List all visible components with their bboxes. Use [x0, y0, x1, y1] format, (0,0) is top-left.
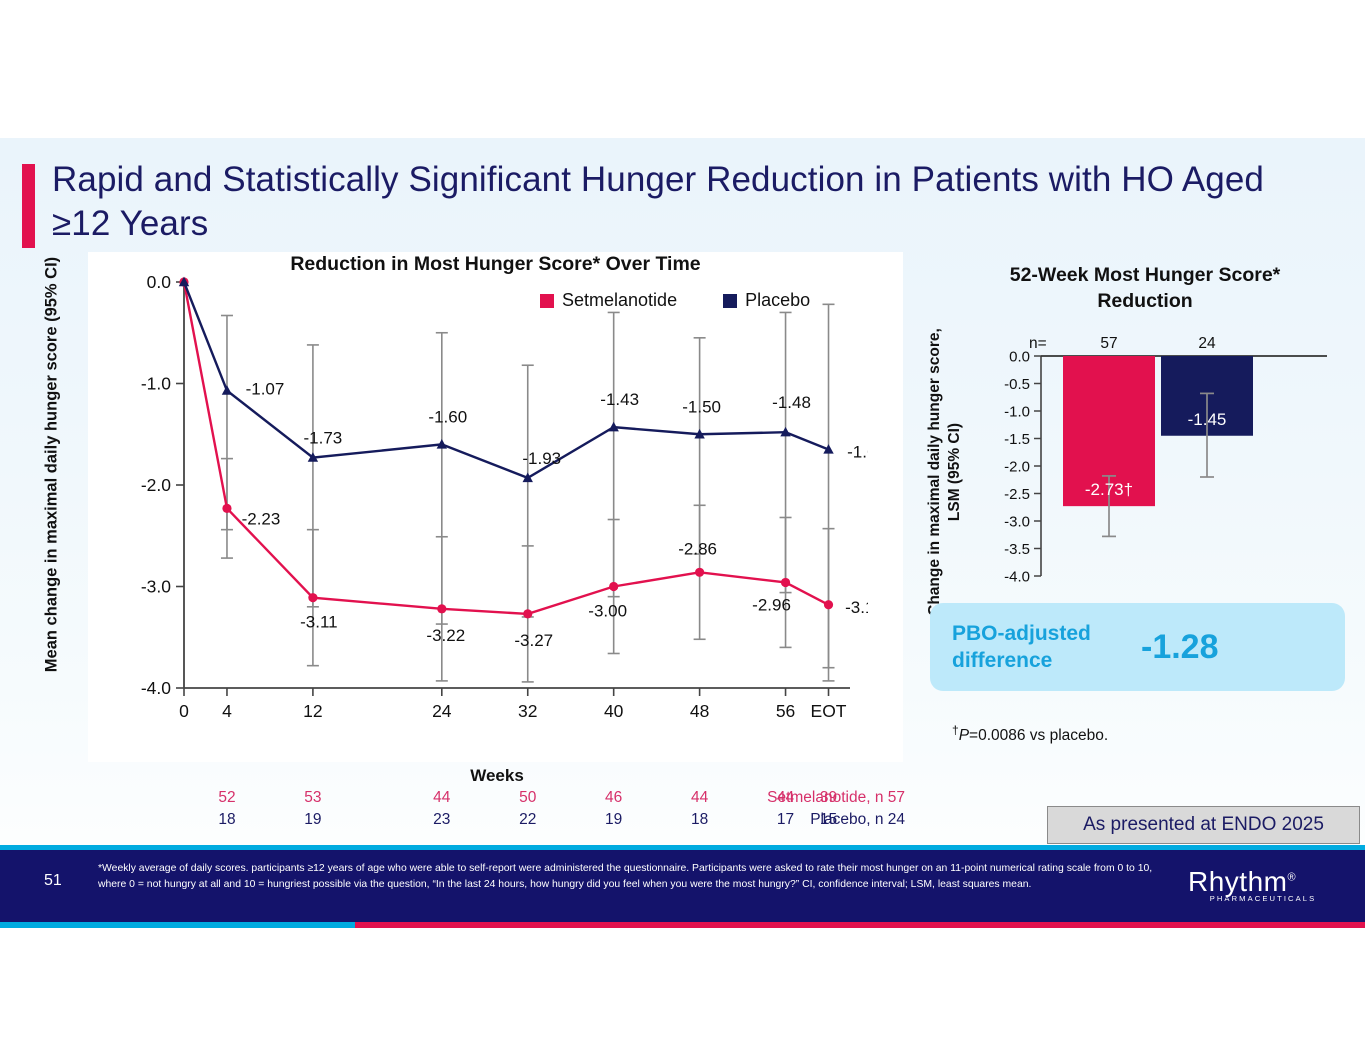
line-chart-plot: 0.0-1.0-2.0-3.0-4.004122432404856EOT-2.2… — [126, 272, 868, 740]
logo-wordmark: Rhythm® — [1188, 866, 1338, 898]
n-cell-placebo: 22 — [507, 811, 549, 829]
svg-text:-3.22: -3.22 — [426, 626, 465, 645]
svg-text:-1.0: -1.0 — [1004, 404, 1030, 421]
svg-text:-2.5: -2.5 — [1004, 486, 1030, 503]
svg-text:-1.65: -1.65 — [847, 442, 868, 461]
bar-chart-plot: 0.0-0.5-1.0-1.5-2.0-2.5-3.0-3.5-4.0n=57-… — [985, 330, 1335, 588]
rhythm-logo: Rhythm® PHARMACEUTICALS — [1188, 866, 1338, 903]
pbo-adjusted-difference-callout: PBO-adjusted difference -1.28 — [930, 603, 1345, 691]
n-cell-setmelanotide: 52 — [206, 789, 248, 807]
n-cell-setmelanotide: 44 — [765, 789, 807, 807]
p-rest: =0.0086 vs placebo. — [969, 727, 1108, 744]
svg-text:-1.73: -1.73 — [304, 429, 343, 448]
n-cell-placebo: 17 — [765, 811, 807, 829]
endo-badge: As presented at ENDO 2025 — [1047, 806, 1360, 844]
svg-text:-1.60: -1.60 — [428, 407, 467, 426]
n-cell-setmelanotide: 50 — [507, 789, 549, 807]
n-cell-setmelanotide: 44 — [679, 789, 721, 807]
page-title: Rapid and Statistically Significant Hung… — [52, 158, 1322, 246]
svg-text:-3.27: -3.27 — [514, 631, 553, 650]
svg-text:24: 24 — [432, 701, 452, 721]
svg-text:EOT: EOT — [811, 701, 847, 721]
n-cell-placebo: 18 — [206, 811, 248, 829]
bottom-rule — [0, 922, 1365, 928]
svg-text:-3.00: -3.00 — [588, 602, 627, 621]
svg-text:-2.0: -2.0 — [141, 475, 171, 495]
svg-text:-1.48: -1.48 — [772, 393, 811, 412]
n-cell-placebo: 18 — [679, 811, 721, 829]
bar-chart-svg: 0.0-0.5-1.0-1.5-2.0-2.5-3.0-3.5-4.0n=57-… — [985, 330, 1335, 588]
svg-text:-1.5: -1.5 — [1004, 431, 1030, 448]
svg-text:56: 56 — [776, 701, 795, 721]
n-cell-setmelanotide: 39 — [808, 789, 850, 807]
svg-text:0: 0 — [179, 701, 189, 721]
svg-text:-1.93: -1.93 — [522, 449, 561, 468]
callout-value: -1.28 — [1141, 628, 1219, 667]
svg-text:57: 57 — [1100, 335, 1117, 352]
n-cell-setmelanotide: 46 — [593, 789, 635, 807]
svg-text:32: 32 — [518, 701, 537, 721]
svg-text:-2.23: -2.23 — [242, 509, 281, 528]
svg-text:-1.07: -1.07 — [246, 380, 285, 399]
svg-text:-4.0: -4.0 — [1004, 569, 1030, 586]
svg-text:-3.11: -3.11 — [300, 613, 338, 632]
svg-text:n=: n= — [1029, 335, 1047, 352]
n-cell-setmelanotide: 53 — [292, 789, 334, 807]
svg-text:0.0: 0.0 — [1009, 349, 1030, 366]
svg-text:-3.0: -3.0 — [141, 577, 171, 597]
registered-icon: ® — [1287, 872, 1296, 884]
svg-text:-2.0: -2.0 — [1004, 459, 1030, 476]
line-chart-y-axis-label: Mean change in maximal daily hunger scor… — [43, 245, 62, 685]
n-cell-placebo: 19 — [292, 811, 334, 829]
line-chart-x-axis-label: Weeks — [126, 766, 868, 786]
svg-text:40: 40 — [604, 701, 624, 721]
logo-word: Rhythm — [1188, 866, 1287, 897]
n-counts-table: Setmelanotide, n 57 5253445046444439 Pla… — [0, 789, 905, 833]
svg-text:-1.45: -1.45 — [1188, 410, 1227, 429]
svg-text:-4.0: -4.0 — [141, 678, 171, 698]
line-chart-svg: 0.0-1.0-2.0-3.0-4.004122432404856EOT-2.2… — [126, 272, 868, 740]
svg-text:0.0: 0.0 — [147, 272, 172, 292]
svg-text:-3.18: -3.18 — [845, 598, 868, 617]
footnote-text: *Weekly average of daily scores. partici… — [98, 861, 1173, 892]
bar-chart-y-axis-label: Change in maximal daily hunger score, LS… — [925, 322, 965, 622]
svg-text:-3.0: -3.0 — [1004, 514, 1030, 531]
p-italic: P — [959, 727, 969, 744]
title-accent-bar — [22, 164, 35, 248]
svg-text:-1.0: -1.0 — [141, 374, 171, 394]
n-cell-placebo: 15 — [808, 811, 850, 829]
slide-number: 51 — [44, 872, 62, 890]
svg-text:-1.43: -1.43 — [600, 390, 639, 409]
n-cell-placebo: 23 — [421, 811, 463, 829]
svg-text:-2.96: -2.96 — [752, 595, 791, 614]
svg-text:48: 48 — [690, 701, 709, 721]
svg-text:-3.5: -3.5 — [1004, 541, 1030, 558]
p-value-note: †P=0.0086 vs placebo. — [952, 723, 1108, 745]
callout-label: PBO-adjusted difference — [952, 620, 1127, 674]
svg-text:-0.5: -0.5 — [1004, 376, 1030, 393]
bar-chart-title: 52-Week Most Hunger Score* Reduction — [960, 262, 1330, 314]
table-row: Placebo, n 24 1819232219181715 — [0, 811, 905, 833]
n-cell-placebo: 19 — [593, 811, 635, 829]
svg-text:-2.73†: -2.73† — [1085, 480, 1133, 499]
svg-text:24: 24 — [1198, 335, 1216, 352]
svg-text:12: 12 — [303, 701, 322, 721]
n-cell-setmelanotide: 44 — [421, 789, 463, 807]
dagger-symbol: † — [952, 723, 959, 737]
table-row: Setmelanotide, n 57 5253445046444439 — [0, 789, 905, 811]
svg-text:-2.86: -2.86 — [678, 539, 717, 558]
svg-text:-1.50: -1.50 — [682, 397, 721, 416]
svg-text:4: 4 — [222, 701, 232, 721]
